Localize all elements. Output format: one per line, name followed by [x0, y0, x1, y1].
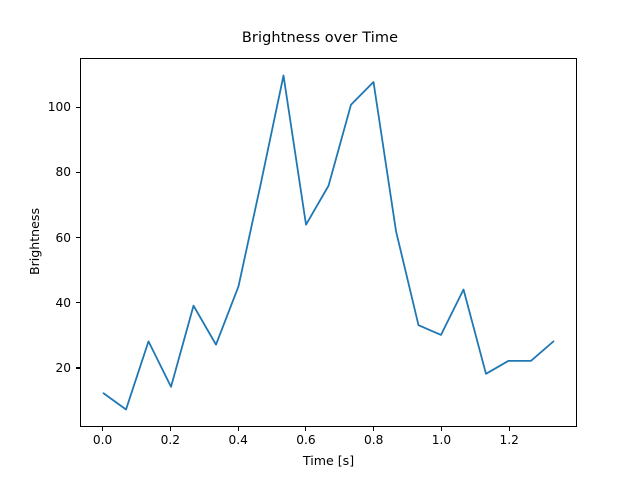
x-tick-label: 0.2 — [161, 433, 180, 447]
x-tick-label: 1.0 — [432, 433, 451, 447]
figure-canvas: Brightness over Time Time [s] Brightness… — [0, 0, 640, 480]
x-tick-label: 1.2 — [500, 433, 519, 447]
y-tick-label: 20 — [20, 361, 71, 375]
y-tick-mark — [76, 172, 80, 173]
x-tick-mark — [102, 427, 103, 431]
x-tick-label: 0.8 — [364, 433, 383, 447]
x-axis-label: Time [s] — [80, 453, 577, 468]
x-tick-label: 0.4 — [228, 433, 247, 447]
y-tick-label: 100 — [20, 100, 71, 114]
y-tick-mark — [76, 367, 80, 368]
x-tick-mark — [441, 427, 442, 431]
x-tick-mark — [509, 427, 510, 431]
y-tick-label: 40 — [20, 296, 71, 310]
brightness-line — [104, 76, 554, 410]
plot-area — [80, 58, 577, 427]
x-tick-mark — [305, 427, 306, 431]
y-tick-mark — [76, 302, 80, 303]
x-tick-mark — [170, 427, 171, 431]
line-series-svg — [81, 59, 576, 426]
y-tick-label: 80 — [20, 165, 71, 179]
chart-title: Brightness over Time — [0, 30, 640, 46]
x-tick-label: 0.0 — [93, 433, 112, 447]
x-tick-label: 0.6 — [296, 433, 315, 447]
y-tick-mark — [76, 107, 80, 108]
y-tick-mark — [76, 237, 80, 238]
x-tick-mark — [238, 427, 239, 431]
x-tick-mark — [373, 427, 374, 431]
y-tick-label: 60 — [20, 231, 71, 245]
